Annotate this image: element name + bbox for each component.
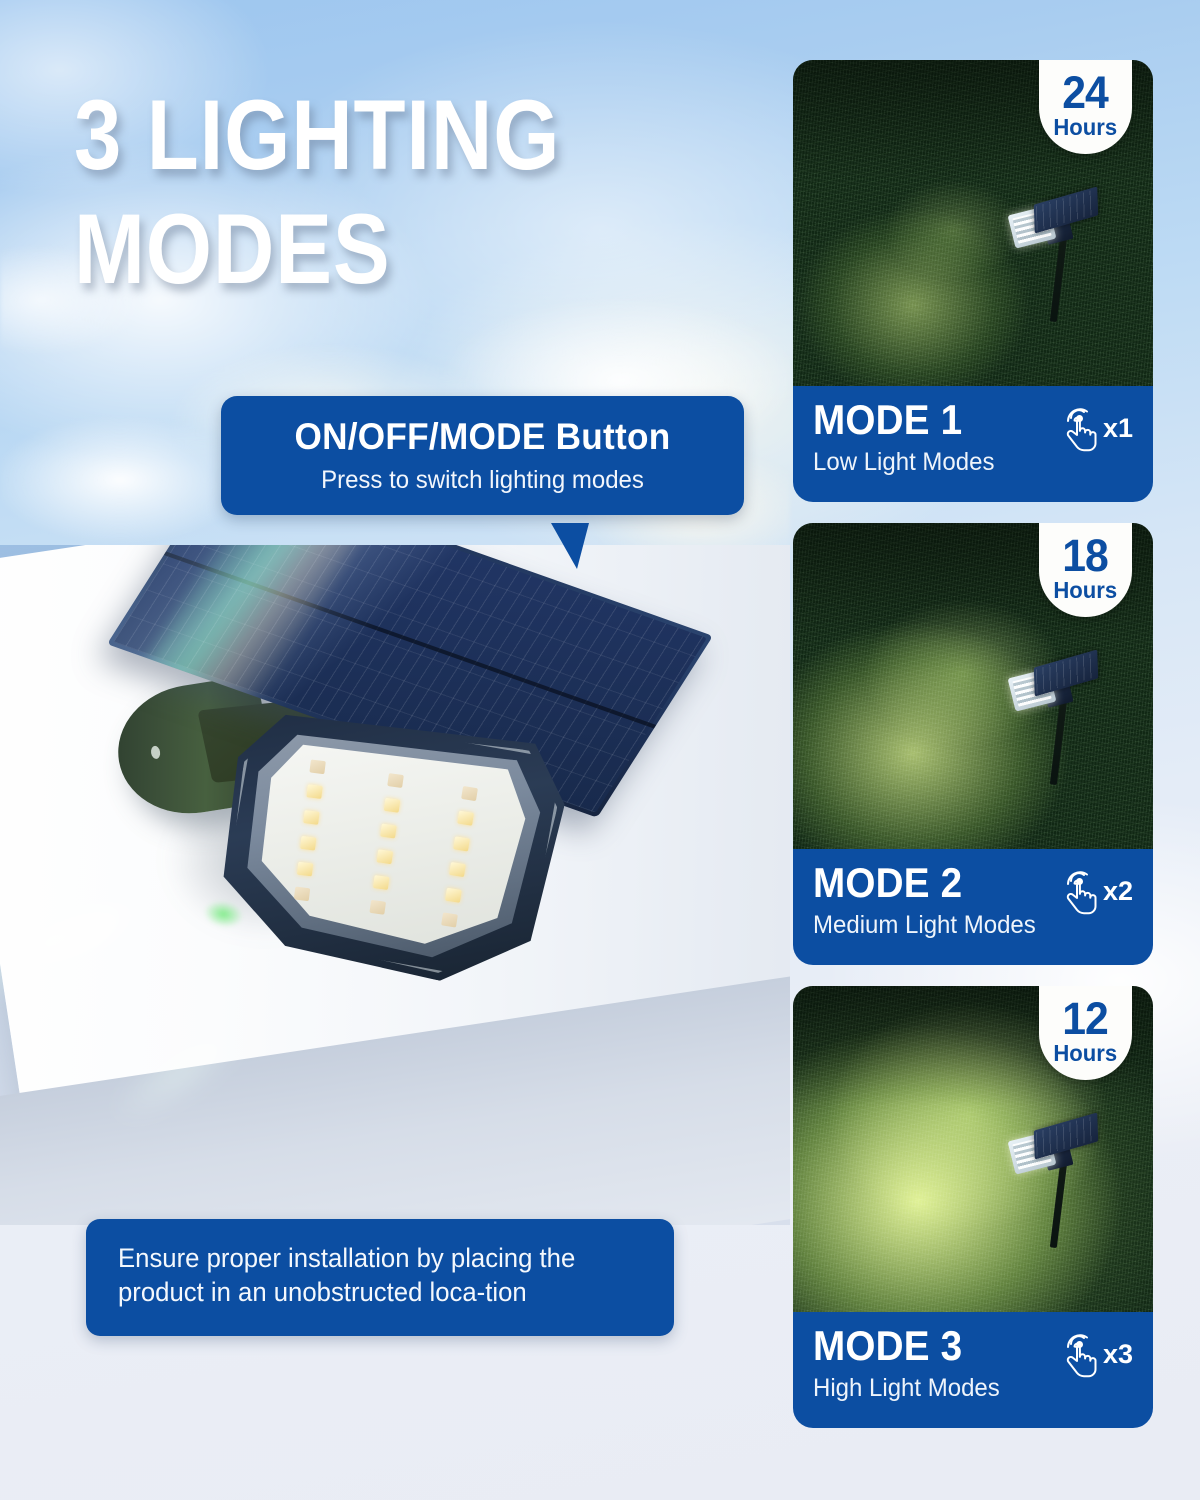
tap-hand-icon — [1056, 404, 1100, 452]
mode-label-bar: MODE 1 Low Light Modes x1 — [793, 386, 1153, 502]
hours-badge: 24 Hours — [1039, 60, 1132, 154]
callout-tail — [551, 523, 589, 569]
installation-note: Ensure proper installation by placing th… — [86, 1219, 674, 1336]
spotlight-product-icon — [1009, 651, 1105, 791]
mode-photo: 18 Hours — [793, 523, 1153, 849]
page-title: 3 LIGHTING MODES — [74, 86, 734, 298]
page-title-line-1: 3 LIGHTING — [74, 86, 642, 184]
press-count-group: x2 — [1056, 867, 1133, 915]
mode-photo: 12 Hours — [793, 986, 1153, 1312]
press-count: x3 — [1103, 1341, 1133, 1368]
tap-hand-icon — [1056, 867, 1100, 915]
installation-note-text: Ensure proper installation by placing th… — [118, 1242, 630, 1310]
product-photo — [0, 545, 790, 1225]
mode-card[interactable]: 18 Hours MODE 2 Medium Light Modes x2 — [793, 523, 1153, 965]
hours-value: 24 — [1063, 72, 1109, 113]
mode-label-text: MODE 3 High Light Modes — [813, 1325, 1008, 1401]
hours-unit: Hours — [1054, 579, 1118, 602]
mode-description: High Light Modes — [813, 1376, 1000, 1401]
mode-card[interactable]: 12 Hours MODE 3 High Light Modes x3 — [793, 986, 1153, 1428]
mode-label-text: MODE 2 Medium Light Modes — [813, 862, 1045, 938]
mode-name: MODE 2 — [813, 862, 1026, 904]
mode-label-bar: MODE 3 High Light Modes x3 — [793, 1312, 1153, 1428]
press-count-group: x3 — [1056, 1330, 1133, 1378]
hours-value: 18 — [1063, 535, 1109, 576]
green-flare — [202, 898, 246, 931]
mode-name: MODE 3 — [813, 1325, 992, 1367]
callout-title: ON/OFF/MODE Button — [257, 418, 708, 457]
hours-unit: Hours — [1054, 116, 1118, 139]
hours-badge: 12 Hours — [1039, 986, 1132, 1080]
spotlight-product-icon — [1009, 1114, 1105, 1254]
mode-card-list: 24 Hours MODE 1 Low Light Modes x1 — [793, 60, 1153, 1449]
callout-bubble: ON/OFF/MODE Button Press to switch light… — [221, 396, 744, 515]
callout-subtitle: Press to switch lighting modes — [255, 466, 711, 495]
mode-label-text: MODE 1 Low Light Modes — [813, 399, 1002, 475]
spotlight-product-icon — [1009, 188, 1105, 328]
mode-card[interactable]: 24 Hours MODE 1 Low Light Modes x1 — [793, 60, 1153, 502]
page-title-line-2: MODES — [74, 200, 642, 298]
tap-hand-icon — [1056, 1330, 1100, 1378]
press-count: x2 — [1103, 878, 1133, 905]
mode-description: Low Light Modes — [813, 450, 994, 475]
hours-value: 12 — [1063, 998, 1109, 1039]
callout-body: ON/OFF/MODE Button Press to switch light… — [221, 396, 744, 515]
hours-badge: 18 Hours — [1039, 523, 1132, 617]
hours-unit: Hours — [1054, 1042, 1118, 1065]
mount-screw-icon — [150, 745, 161, 759]
mode-name: MODE 1 — [813, 399, 987, 441]
press-count: x1 — [1103, 415, 1133, 442]
mode-label-bar: MODE 2 Medium Light Modes x2 — [793, 849, 1153, 965]
mode-photo: 24 Hours — [793, 60, 1153, 386]
press-count-group: x1 — [1056, 404, 1133, 452]
mode-description: Medium Light Modes — [813, 913, 1036, 938]
